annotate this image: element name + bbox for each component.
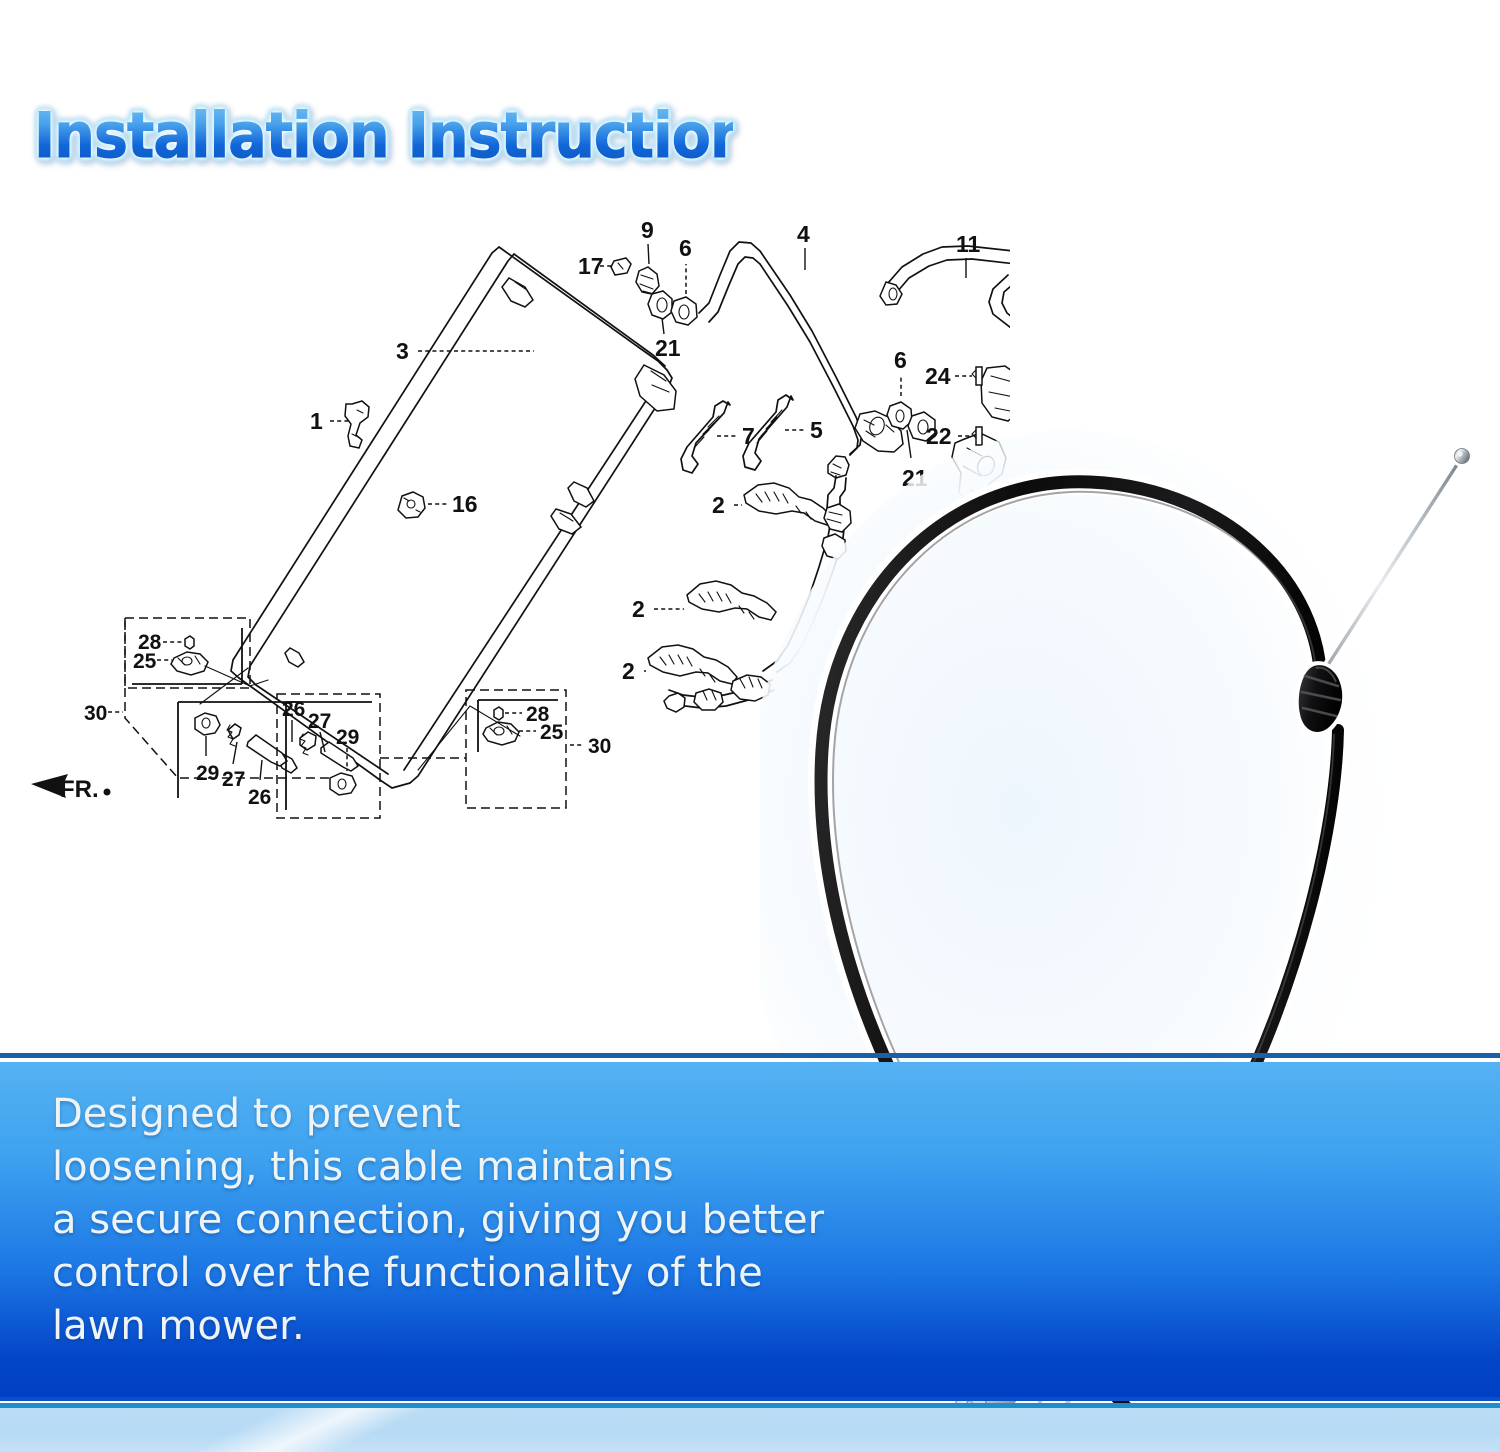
description-banner: Designed to prevent loosening, this cabl… [0, 1062, 1500, 1397]
label-6: 6 [679, 235, 692, 294]
label-3: 3 [396, 338, 534, 364]
part-7-spring [681, 401, 730, 473]
banner-top-rule [0, 1053, 1500, 1058]
parts-17-9-21-6-cluster [611, 258, 697, 325]
label-16: 16 [428, 491, 478, 517]
label-2-b: 2 [632, 596, 684, 622]
banner-bottom-rule [0, 1397, 1500, 1401]
page-title: Installation Instructions Installation I… [34, 96, 794, 176]
svg-text:16: 16 [452, 491, 478, 517]
label-24: 24 [925, 363, 972, 389]
orientation-arrow-fr: FR. [31, 774, 111, 803]
part-11-rod [880, 246, 1010, 421]
part-24-pin [972, 367, 982, 385]
svg-text:21: 21 [655, 335, 681, 361]
svg-text:25: 25 [133, 650, 157, 673]
label-9: 9 [641, 218, 654, 264]
svg-text:9: 9 [641, 218, 654, 243]
label-4: 4 [797, 221, 810, 270]
footer-sheen [0, 1408, 764, 1452]
svg-text:4: 4 [797, 221, 810, 247]
svg-text:1: 1 [310, 408, 323, 434]
svg-text:6: 6 [679, 235, 692, 261]
label-2-c: 2 [622, 658, 646, 684]
svg-text:2: 2 [632, 596, 645, 622]
label-1: 1 [310, 408, 348, 434]
label-17: 17 [578, 253, 612, 279]
svg-text:27: 27 [222, 768, 245, 791]
part-16-nut [398, 492, 425, 518]
svg-text:29: 29 [196, 762, 219, 785]
svg-text:FR.: FR. [60, 776, 99, 803]
inner-wire-upper [1326, 445, 1473, 668]
svg-text:3: 3 [396, 338, 409, 364]
page-title-text: Installation Instructions [34, 96, 733, 176]
svg-text:25: 25 [540, 721, 564, 744]
svg-text:11: 11 [956, 231, 981, 257]
label-6-right: 6 [894, 347, 907, 396]
svg-text:30: 30 [588, 735, 611, 758]
svg-text:17: 17 [578, 253, 604, 279]
label-11: 11 [956, 231, 981, 278]
svg-text:27: 27 [308, 710, 331, 733]
description-text: Designed to prevent loosening, this cabl… [52, 1088, 982, 1353]
label-21: 21 [655, 318, 681, 361]
svg-text:30: 30 [84, 702, 107, 725]
part-2-cable-c [648, 645, 737, 684]
detail-box-center: 26 27 29 [277, 694, 380, 818]
detail-box-right-30: 28 25 30 [466, 690, 611, 808]
footer-strip [0, 1408, 1500, 1452]
svg-text:26: 26 [248, 786, 271, 809]
svg-text:26: 26 [282, 698, 305, 721]
svg-text:2: 2 [622, 658, 635, 684]
svg-text:29: 29 [336, 726, 359, 749]
svg-text:24: 24 [925, 363, 951, 389]
label-7: 7 [717, 423, 755, 449]
product-infographic-page: Installation Instructions Installation I… [0, 0, 1500, 1452]
part-1-hook [345, 401, 369, 448]
label-2-a: 2 [712, 492, 742, 518]
svg-text:2: 2 [712, 492, 725, 518]
svg-text:6: 6 [894, 347, 907, 373]
